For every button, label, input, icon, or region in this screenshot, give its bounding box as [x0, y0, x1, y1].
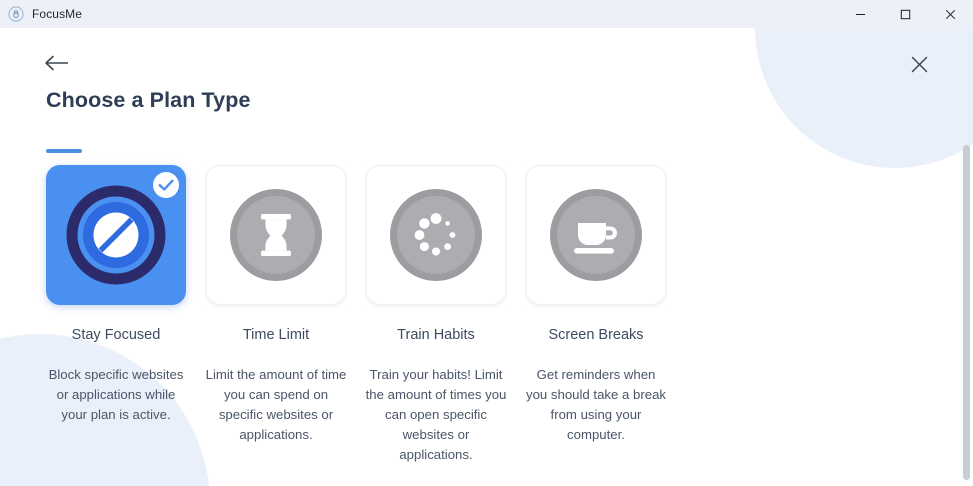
plan-card-time-limit[interactable] — [206, 165, 346, 305]
plan-label: Train Habits — [397, 327, 475, 344]
plan-option-time-limit: Time Limit Limit the amount of time you … — [206, 165, 346, 465]
plan-label: Time Limit — [243, 327, 309, 344]
title-underline-accent — [46, 149, 82, 153]
plan-type-list: Stay Focused Block specific websites or … — [46, 165, 666, 465]
plan-option-train-habits: Train Habits Train your habits! Limit th… — [366, 165, 506, 465]
plan-description: Block specific websites or applications … — [45, 365, 187, 425]
plan-description: Train your habits! Limit the amount of t… — [365, 365, 507, 465]
plan-card-screen-breaks[interactable] — [526, 165, 666, 305]
title-bar-left: FocusMe — [0, 6, 82, 22]
scrollbar-thumb[interactable] — [963, 145, 970, 480]
focusme-window: FocusMe Ch — [0, 0, 973, 486]
focusme-logo-icon — [8, 6, 24, 22]
spinner-dots-icon — [382, 181, 490, 289]
close-icon[interactable] — [928, 0, 973, 28]
vertical-scrollbar[interactable] — [959, 28, 973, 486]
window-controls — [838, 0, 973, 28]
selected-check-badge — [152, 171, 180, 199]
plan-label: Screen Breaks — [548, 327, 643, 344]
hourglass-icon — [222, 181, 330, 289]
plan-card-train-habits[interactable] — [366, 165, 506, 305]
plan-option-stay-focused: Stay Focused Block specific websites or … — [46, 165, 186, 465]
plan-description: Get reminders when you should take a bre… — [525, 365, 667, 445]
page-title: Choose a Plan Type — [46, 88, 251, 113]
plan-description: Limit the amount of time you can spend o… — [205, 365, 347, 445]
title-bar: FocusMe — [0, 0, 973, 28]
minimize-icon[interactable] — [838, 0, 883, 28]
app-title: FocusMe — [32, 7, 82, 21]
back-arrow-icon[interactable] — [44, 52, 70, 74]
coffee-cup-icon — [542, 181, 650, 289]
plan-label: Stay Focused — [72, 327, 161, 344]
plan-option-screen-breaks: Screen Breaks Get reminders when you sho… — [526, 165, 666, 465]
close-panel-icon[interactable] — [909, 54, 929, 74]
maximize-icon[interactable] — [883, 0, 928, 28]
content-area: Choose a Plan Type — [0, 28, 973, 486]
plan-card-stay-focused[interactable] — [46, 165, 186, 305]
